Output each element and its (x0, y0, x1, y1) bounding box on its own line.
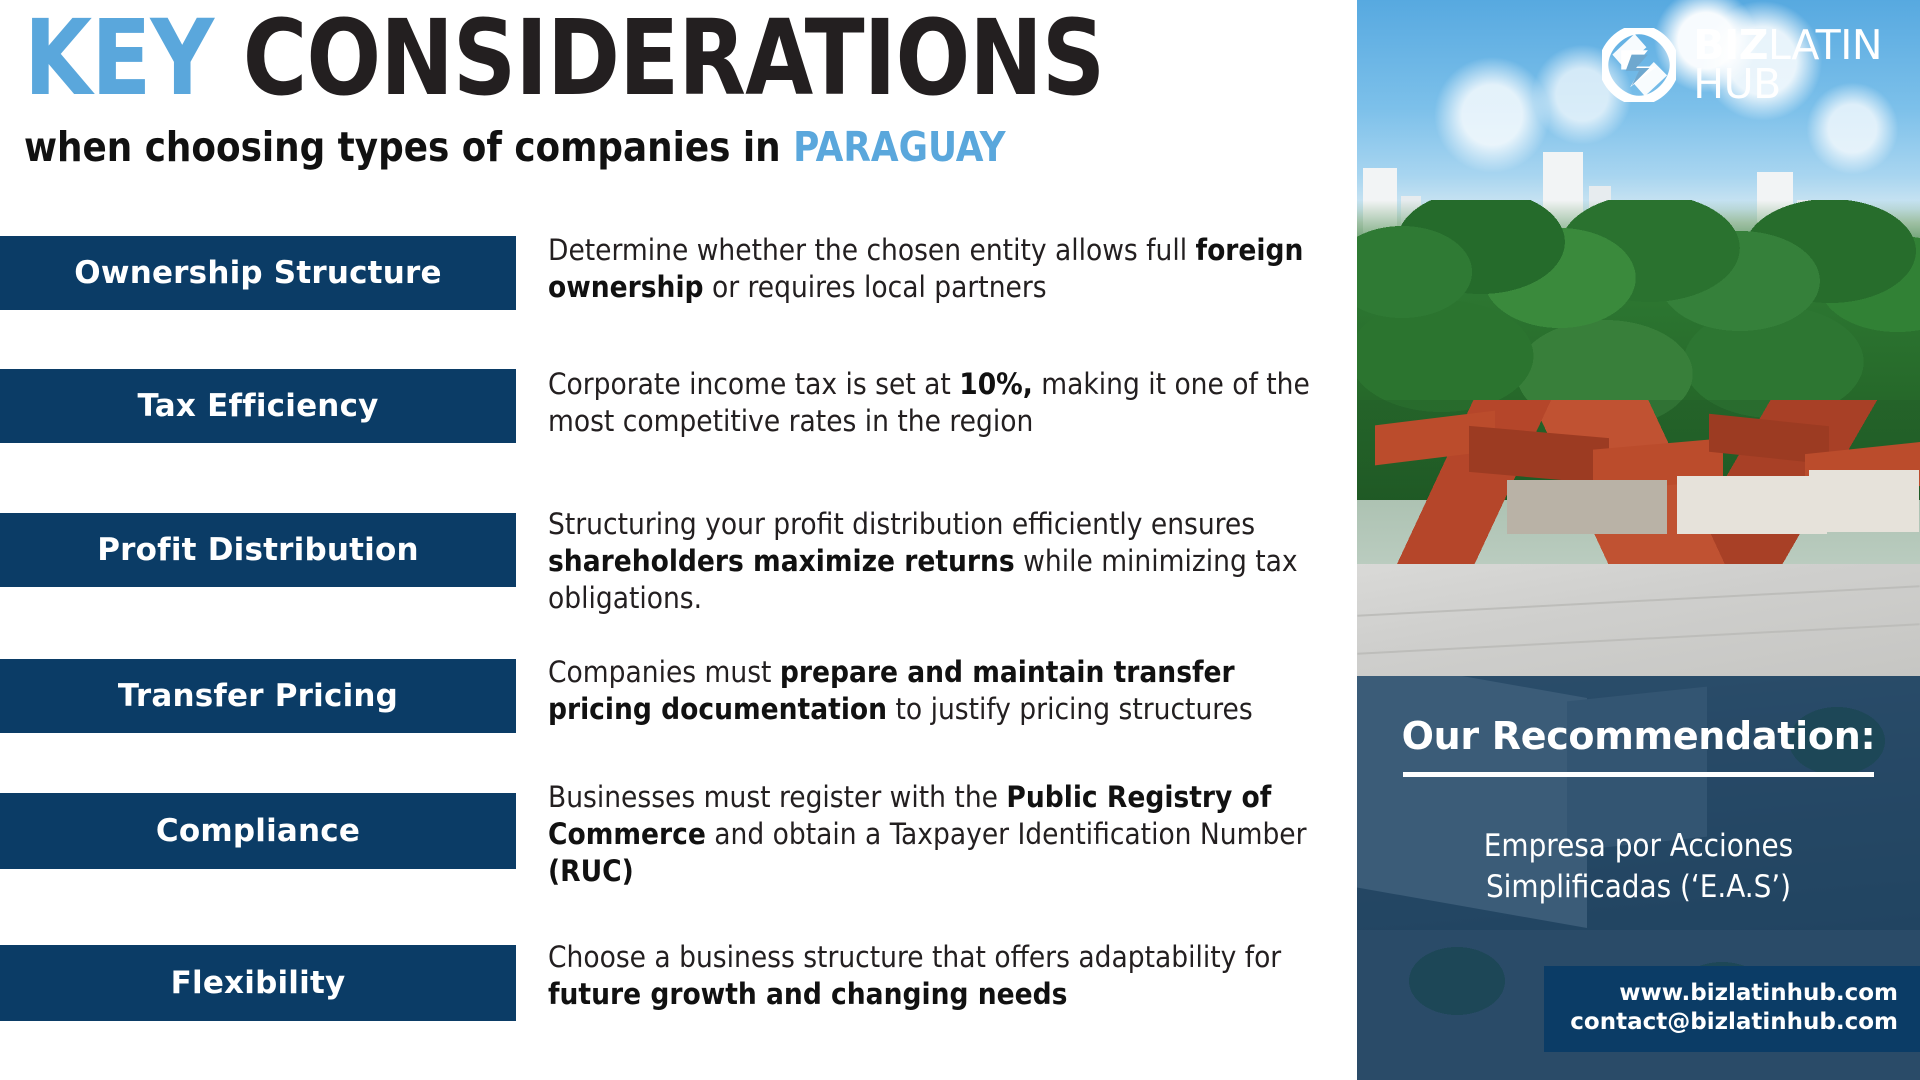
description-text: and obtain a Taxpayer Identification Num… (706, 817, 1307, 851)
description-text: Determine whether the chosen entity allo… (548, 233, 1196, 267)
consideration-label-bar[interactable]: Ownership Structure (0, 236, 516, 310)
consideration-label-bar[interactable]: Profit Distribution (0, 513, 516, 587)
title-block: KEY CONSIDERATIONS when choosing types o… (24, 6, 1314, 168)
description-highlight: (RUC) (548, 854, 634, 888)
page-subtitle: when choosing types of companies in PARA… (24, 127, 1275, 168)
title-accent-word: KEY (24, 0, 213, 119)
consideration-description: Choose a business structure that offers … (548, 939, 1336, 1013)
contact-box: www.bizlatinhub.com contact@bizlatinhub.… (1544, 966, 1920, 1052)
recommendation-body: Empresa por Acciones Simplificadas (‘E.A… (1401, 826, 1876, 908)
left-content-column: KEY CONSIDERATIONS when choosing types o… (0, 0, 1357, 1080)
wall-shape (1677, 476, 1827, 534)
consideration-description: Corporate income tax is set at 10%, maki… (548, 366, 1336, 440)
recommendation-title: Our Recommendation: (1357, 714, 1920, 758)
pavement-line (1357, 585, 1919, 616)
right-media-panel: BIZLATIN HUB Our Recommendation: Empresa… (1357, 0, 1920, 1080)
consideration-label-bar[interactable]: Compliance (0, 793, 516, 869)
subtitle-country: PARAGUAY (793, 123, 1005, 171)
infographic-page: KEY CONSIDERATIONS when choosing types o… (0, 0, 1920, 1080)
description-highlight: future growth and changing needs (548, 977, 1067, 1011)
page-title: KEY CONSIDERATIONS (24, 6, 1237, 110)
description-highlight: shareholders maximize returns (548, 544, 1015, 578)
subtitle-prefix: when choosing types of companies in (24, 123, 793, 171)
description-text: Structuring your profit distribution eff… (548, 507, 1255, 541)
consideration-description: Businesses must register with the Public… (548, 779, 1336, 890)
bizlatinhub-logo: BIZLATIN HUB (1602, 26, 1882, 103)
logo-line-one: BIZLATIN (1693, 26, 1882, 65)
logo-latin: LATIN (1768, 21, 1882, 69)
description-highlight: 10%, (959, 367, 1033, 401)
description-text: Companies must (548, 655, 780, 689)
title-rest: CONSIDERATIONS (243, 0, 1105, 119)
description-text: or requires local partners (704, 270, 1047, 304)
contact-website[interactable]: www.bizlatinhub.com (1570, 979, 1898, 1008)
description-text: Corporate income tax is set at (548, 367, 959, 401)
consideration-description: Companies must prepare and maintain tran… (548, 654, 1336, 728)
consideration-description: Determine whether the chosen entity allo… (548, 232, 1336, 306)
consideration-rows: Ownership StructureDetermine whether the… (0, 236, 1357, 1080)
consideration-label-bar[interactable]: Tax Efficiency (0, 369, 516, 443)
description-text: to justify pricing structures (887, 692, 1253, 726)
bizlatinhub-mark-icon (1602, 28, 1676, 102)
logo-hub: HUB (1693, 65, 1882, 104)
description-text: Choose a business structure that offers … (548, 940, 1281, 974)
contact-email[interactable]: contact@bizlatinhub.com (1570, 1008, 1898, 1037)
wall-shape (1809, 470, 1919, 532)
pavement-line (1357, 623, 1919, 654)
wall-shape (1507, 480, 1667, 534)
consideration-label-bar[interactable]: Flexibility (0, 945, 516, 1021)
description-text: Businesses must register with the (548, 780, 1006, 814)
consideration-label-bar[interactable]: Transfer Pricing (0, 659, 516, 733)
consideration-description: Structuring your profit distribution eff… (548, 506, 1336, 617)
recommendation-divider (1403, 772, 1874, 777)
pavement (1357, 564, 1920, 676)
logo-wordmark: BIZLATIN HUB (1693, 26, 1882, 103)
